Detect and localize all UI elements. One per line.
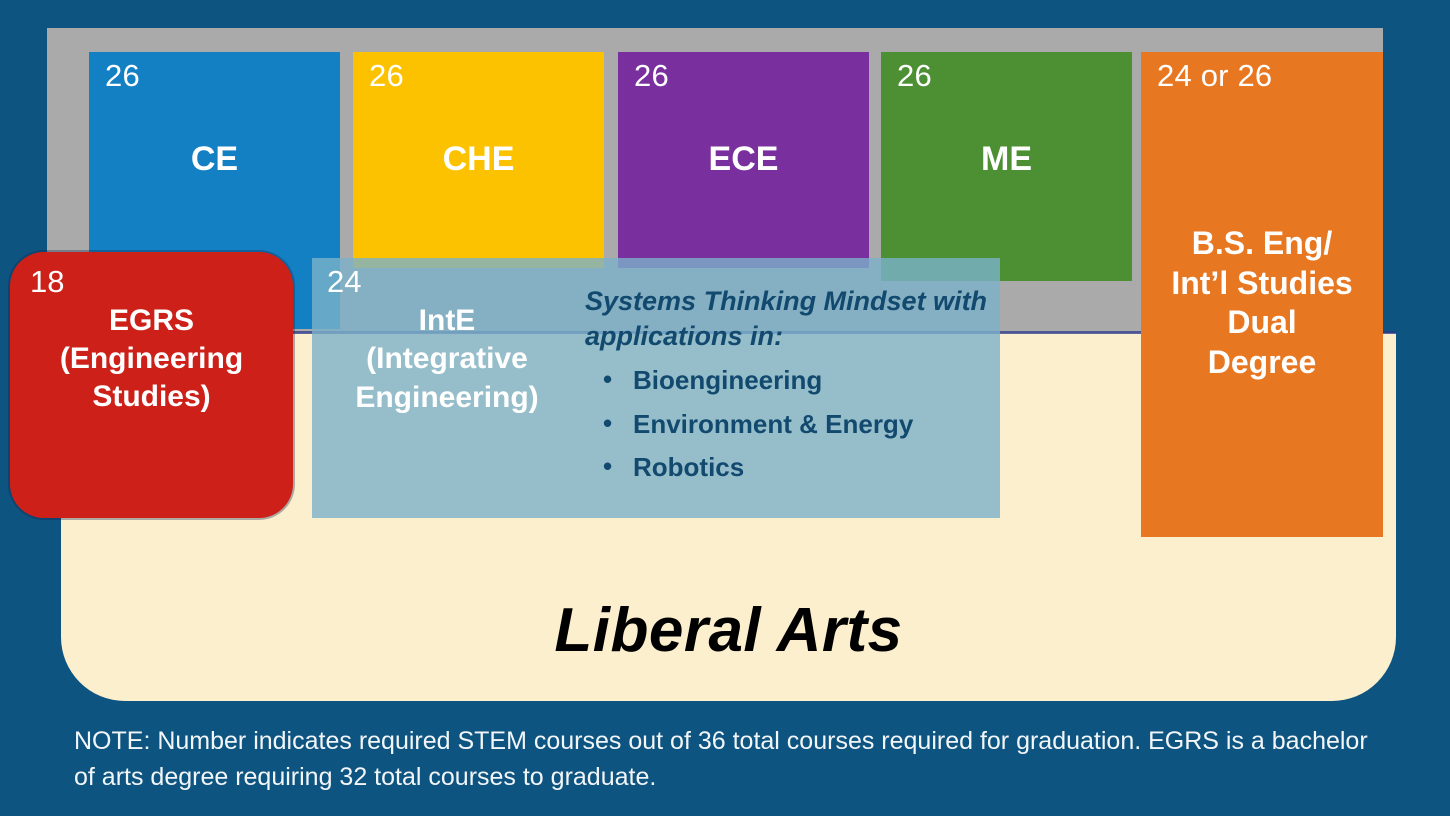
- stem-course-count-ce: 26: [105, 60, 140, 91]
- footnote-text: NOTE: Number indicates required STEM cou…: [74, 724, 1384, 795]
- stem-course-count-egrs: 18: [30, 266, 64, 297]
- systems-applications-list: Bioengineering Environment & Energy Robo…: [585, 359, 995, 489]
- foundation-label: Liberal Arts: [61, 595, 1396, 666]
- program-column-me[interactable]: 26 ME: [881, 52, 1132, 281]
- program-column-dual-degree[interactable]: 24 or 26 B.S. Eng/Int’l StudiesDualDegre…: [1141, 52, 1383, 537]
- list-item: Environment & Energy: [585, 403, 995, 446]
- program-label-egrs: EGRS(EngineeringStudies): [14, 302, 289, 415]
- systems-thinking-headline: Systems Thinking Mindset with applicatio…: [585, 284, 995, 353]
- list-item: Robotics: [585, 446, 995, 489]
- stem-course-count-inte: 24: [327, 266, 361, 297]
- stem-course-count-ece: 26: [634, 60, 669, 91]
- program-column-che[interactable]: 26 CHE: [353, 52, 604, 268]
- program-column-ece[interactable]: 26 ECE: [618, 52, 869, 268]
- program-panel-inte[interactable]: 24 IntE(IntegrativeEngineering) Systems …: [312, 258, 1000, 518]
- program-label-ece: ECE: [618, 140, 869, 179]
- stem-course-count-che: 26: [369, 60, 404, 91]
- program-label-dual-degree: B.S. Eng/Int’l StudiesDualDegree: [1147, 224, 1377, 383]
- program-card-egrs[interactable]: 18 EGRS(EngineeringStudies): [10, 252, 293, 518]
- stem-course-count-me: 26: [897, 60, 932, 91]
- stem-course-count-dual-degree: 24 or 26: [1157, 60, 1272, 91]
- program-label-inte: IntE(IntegrativeEngineering): [322, 302, 572, 417]
- program-label-ce: CE: [89, 140, 340, 179]
- systems-thinking-block: Systems Thinking Mindset with applicatio…: [585, 284, 995, 489]
- list-item: Bioengineering: [585, 359, 995, 402]
- program-label-che: CHE: [353, 140, 604, 179]
- slide-canvas: 26 CE 26 CHE 26 ECE 26 ME 24 or 26 B.S. …: [0, 0, 1450, 816]
- program-label-me: ME: [881, 140, 1132, 179]
